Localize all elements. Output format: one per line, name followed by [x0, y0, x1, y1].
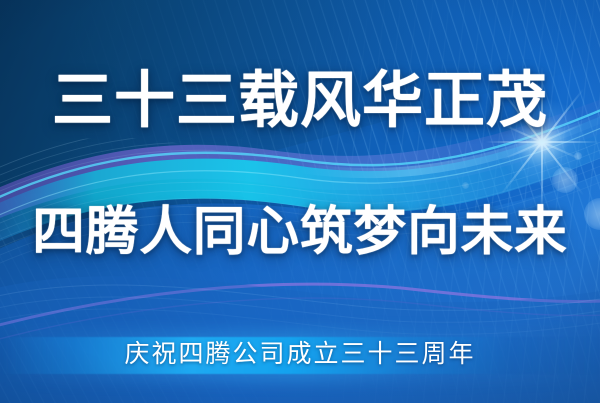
- bokeh-circle-icon: [552, 167, 578, 193]
- anniversary-poster: 三十三载风华正茂 四腾人同心筑梦向未来 庆祝四腾公司成立三十三周年: [0, 0, 600, 403]
- bokeh-circle-icon: [574, 152, 582, 160]
- bokeh-circle-icon: [462, 182, 469, 189]
- headline-line-2: 四腾人同心筑梦向未来: [0, 196, 600, 268]
- subtitle-text: 庆祝四腾公司成立三十三周年: [0, 340, 600, 370]
- headline-line-1: 三十三载风华正茂: [0, 64, 600, 136]
